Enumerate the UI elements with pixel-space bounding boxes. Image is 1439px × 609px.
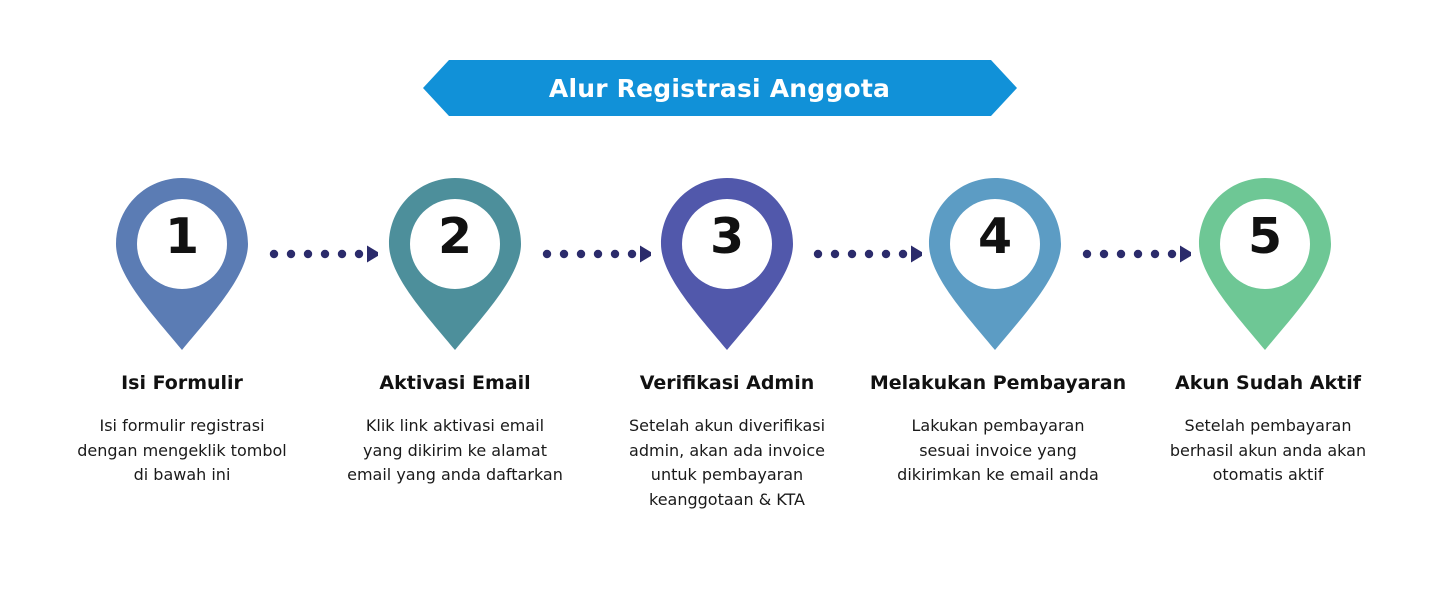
dotted-arrow-right-icon [1081,244,1191,264]
step-description-1: Isi formulir registrasi dengan mengeklik… [42,414,322,488]
step-pin-5[interactable]: 5 [1197,176,1333,352]
step-number-1: 1 [114,212,250,261]
banner: Alur Registrasi Anggota [423,60,1017,116]
step-number-5: 5 [1197,212,1333,261]
step-description-5: Setelah pembayaran berhasil akun anda ak… [1134,414,1402,488]
step-title-4: Melakukan Pembayaran [860,372,1136,395]
step-pin-2[interactable]: 2 [387,176,523,352]
step-description-4: Lakukan pembayaran sesuai invoice yang d… [860,414,1136,488]
registration-flow-infographic: Alur Registrasi Anggota 1 [0,0,1439,609]
dotted-arrow-right-icon [812,244,922,264]
banner-container: Alur Registrasi Anggota [0,58,1439,118]
connector-1-2 [268,244,378,264]
dotted-arrow-right-icon [268,244,378,264]
step-title-5: Akun Sudah Aktif [1134,372,1402,395]
captions-row: Isi Formulir Isi formulir registrasi den… [0,372,1439,552]
step-caption-3: Verifikasi Admin Setelah akun diverifika… [592,372,862,513]
step-number-2: 2 [387,212,523,261]
step-description-3: Setelah akun diverifikasi admin, akan ad… [592,414,862,513]
step-title-3: Verifikasi Admin [592,372,862,395]
step-caption-4: Melakukan Pembayaran Lakukan pembayaran … [860,372,1136,488]
step-caption-1: Isi Formulir Isi formulir registrasi den… [42,372,322,488]
step-description-2: Klik link aktivasi email yang dikirim ke… [320,414,590,488]
connector-2-3 [541,244,651,264]
page-title: Alur Registrasi Anggota [549,76,890,101]
step-caption-2: Aktivasi Email Klik link aktivasi email … [320,372,590,488]
step-number-4: 4 [927,212,1063,261]
steps-row: 1 2 [0,176,1439,356]
step-title-2: Aktivasi Email [320,372,590,395]
step-pin-1[interactable]: 1 [114,176,250,352]
connector-3-4 [812,244,922,264]
dotted-arrow-right-icon [541,244,651,264]
step-caption-5: Akun Sudah Aktif Setelah pembayaran berh… [1134,372,1402,488]
step-pin-4[interactable]: 4 [927,176,1063,352]
step-pin-3[interactable]: 3 [659,176,795,352]
step-title-1: Isi Formulir [42,372,322,395]
step-number-3: 3 [659,212,795,261]
connector-4-5 [1081,244,1191,264]
